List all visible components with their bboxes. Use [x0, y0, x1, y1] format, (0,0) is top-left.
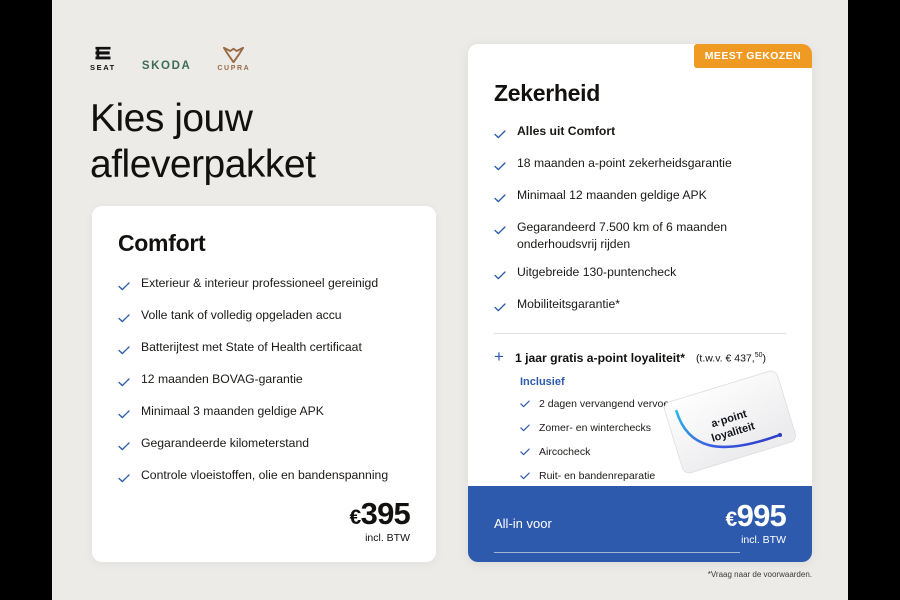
- skoda-logo: SKODA: [142, 60, 192, 72]
- list-item: Minimaal 12 maanden geldige APK: [494, 187, 786, 208]
- list-item: Minimaal 3 maanden geldige APK: [118, 403, 410, 424]
- plus-icon: +: [494, 348, 504, 365]
- list-item: Gegarandeerd 7.500 km of 6 maanden onder…: [494, 219, 786, 253]
- list-item-label: Uitgebreide 130-puntencheck: [517, 264, 676, 281]
- zekerheid-title: Zekerheid: [494, 80, 786, 107]
- list-item: Batterijtest met State of Health certifi…: [118, 339, 410, 360]
- status-badge: MEEST GEKOZEN: [694, 44, 812, 68]
- list-item: Controle vloeistoffen, olie en bandenspa…: [118, 467, 410, 488]
- bonus-label: 1 jaar gratis a-point loyaliteit*: [515, 351, 685, 365]
- comfort-price-note: incl. BTW: [349, 532, 410, 544]
- check-icon: [118, 278, 130, 296]
- zekerheid-feature-list: Alles uit Comfort 18 maanden a-point zek…: [494, 123, 786, 317]
- list-item-label: Volle tank of volledig opgeladen accu: [141, 307, 342, 324]
- currency-symbol: €: [349, 506, 360, 529]
- list-item-label: Gegarandeerde kilometerstand: [141, 435, 309, 452]
- list-item-label: Ruit- en bandenreparatie: [539, 470, 655, 482]
- check-icon: [494, 299, 506, 317]
- seat-emblem-icon: [93, 45, 113, 62]
- divider: [494, 333, 786, 334]
- cupra-logo: CUPRA: [217, 47, 250, 72]
- check-icon: [494, 126, 506, 144]
- check-icon: [118, 342, 130, 360]
- check-icon: [118, 374, 130, 392]
- cupra-emblem-icon: [223, 47, 244, 63]
- bonus-value-suffix: ): [762, 353, 766, 365]
- check-icon: [494, 267, 506, 285]
- zekerheid-price-footer: All-in voor €995 incl. BTW: [468, 486, 812, 562]
- cupra-wordmark: CUPRA: [217, 65, 250, 72]
- list-item: 18 maanden a-point zekerheidsgarantie: [494, 155, 786, 176]
- check-icon: [520, 467, 530, 485]
- list-item: Ruit- en bandenreparatie: [520, 467, 786, 485]
- list-item: Uitgebreide 130-puntencheck: [494, 264, 786, 285]
- list-item-label: 18 maanden a-point zekerheidsgarantie: [517, 155, 732, 172]
- check-icon: [520, 395, 530, 413]
- list-item-label: Exterieur & interieur professioneel gere…: [141, 275, 378, 292]
- check-icon: [494, 190, 506, 208]
- zekerheid-body: MEEST GEKOZEN Zekerheid Alles uit Comfor…: [468, 44, 812, 485]
- price-amount: 395: [361, 496, 410, 531]
- footer-price-block: €995 incl. BTW: [725, 500, 786, 546]
- list-item: Aircocheck: [520, 443, 786, 461]
- page-title: Kies jouw afleverpakket: [90, 96, 420, 188]
- list-item-label: Gegarandeerd 7.500 km of 6 maanden onder…: [517, 219, 786, 253]
- list-item-label: 2 dagen vervangend vervoer: [539, 398, 673, 410]
- list-item: Mobiliteitsgarantie*: [494, 296, 786, 317]
- list-item: Volle tank of volledig opgeladen accu: [118, 307, 410, 328]
- footer-label: All-in voor: [494, 516, 552, 531]
- list-item-label: Mobiliteitsgarantie*: [517, 296, 620, 313]
- list-item-label: Batterijtest met State of Health certifi…: [141, 339, 362, 356]
- list-item: Gegarandeerde kilometerstand: [118, 435, 410, 456]
- footer-price: €995: [725, 500, 786, 531]
- comfort-price: €395: [349, 498, 410, 529]
- seat-wordmark: SEAT: [90, 63, 116, 72]
- bonus-value-prefix: (t.w.v. € 437,: [696, 353, 755, 365]
- included-title: Inclusief: [520, 376, 786, 388]
- footer-price-note: incl. BTW: [725, 534, 786, 546]
- check-icon: [494, 158, 506, 176]
- list-item: 2 dagen vervangend vervoer: [520, 395, 786, 413]
- check-icon: [494, 222, 506, 240]
- bonus-value: (t.w.v. € 437,50): [696, 352, 766, 365]
- screenshot-stage: SEAT SKODA CUPRA Kies jouw afleverpakket…: [0, 0, 900, 600]
- footer-underline: [494, 552, 740, 553]
- list-item: 12 maanden BOVAG-garantie: [118, 371, 410, 392]
- seat-logo: SEAT: [90, 45, 116, 72]
- comfort-price-block: €395 incl. BTW: [349, 498, 410, 544]
- list-item-label: 12 maanden BOVAG-garantie: [141, 371, 303, 388]
- list-item-label: Alles uit Comfort: [517, 123, 615, 140]
- brand-logo-bar: SEAT SKODA CUPRA: [90, 40, 250, 72]
- skoda-wordmark: SKODA: [142, 60, 192, 72]
- footer-price-row: All-in voor €995 incl. BTW: [494, 500, 786, 546]
- bonus-row: + 1 jaar gratis a-point loyaliteit* (t.w…: [494, 348, 786, 365]
- list-item-label: Minimaal 3 maanden geldige APK: [141, 403, 324, 420]
- price-amount: 995: [737, 498, 786, 533]
- check-icon: [520, 419, 530, 437]
- check-icon: [118, 310, 130, 328]
- comfort-feature-list: Exterieur & interieur professioneel gere…: [118, 275, 410, 488]
- currency-symbol: €: [725, 508, 736, 531]
- comfort-title: Comfort: [118, 230, 410, 257]
- check-icon: [118, 470, 130, 488]
- list-item: Alles uit Comfort: [494, 123, 786, 144]
- list-item-label: Minimaal 12 maanden geldige APK: [517, 187, 707, 204]
- check-icon: [520, 443, 530, 461]
- check-icon: [118, 406, 130, 424]
- footnote-text: *Vraag naar de voorwaarden.: [708, 570, 812, 579]
- list-item-label: Zomer- en winterchecks: [539, 422, 651, 434]
- list-item-label: Aircocheck: [539, 446, 590, 458]
- check-icon: [118, 438, 130, 456]
- list-item: Exterieur & interieur professioneel gere…: [118, 275, 410, 296]
- zekerheid-package-card[interactable]: MEEST GEKOZEN Zekerheid Alles uit Comfor…: [468, 44, 812, 562]
- comfort-package-card[interactable]: Comfort Exterieur & interieur profession…: [92, 206, 436, 562]
- included-section: Inclusief 2 dagen vervangend vervoer Zom…: [520, 376, 786, 485]
- page-canvas: SEAT SKODA CUPRA Kies jouw afleverpakket…: [52, 0, 848, 600]
- list-item-label: Controle vloeistoffen, olie en bandenspa…: [141, 467, 388, 484]
- list-item: Zomer- en winterchecks: [520, 419, 786, 437]
